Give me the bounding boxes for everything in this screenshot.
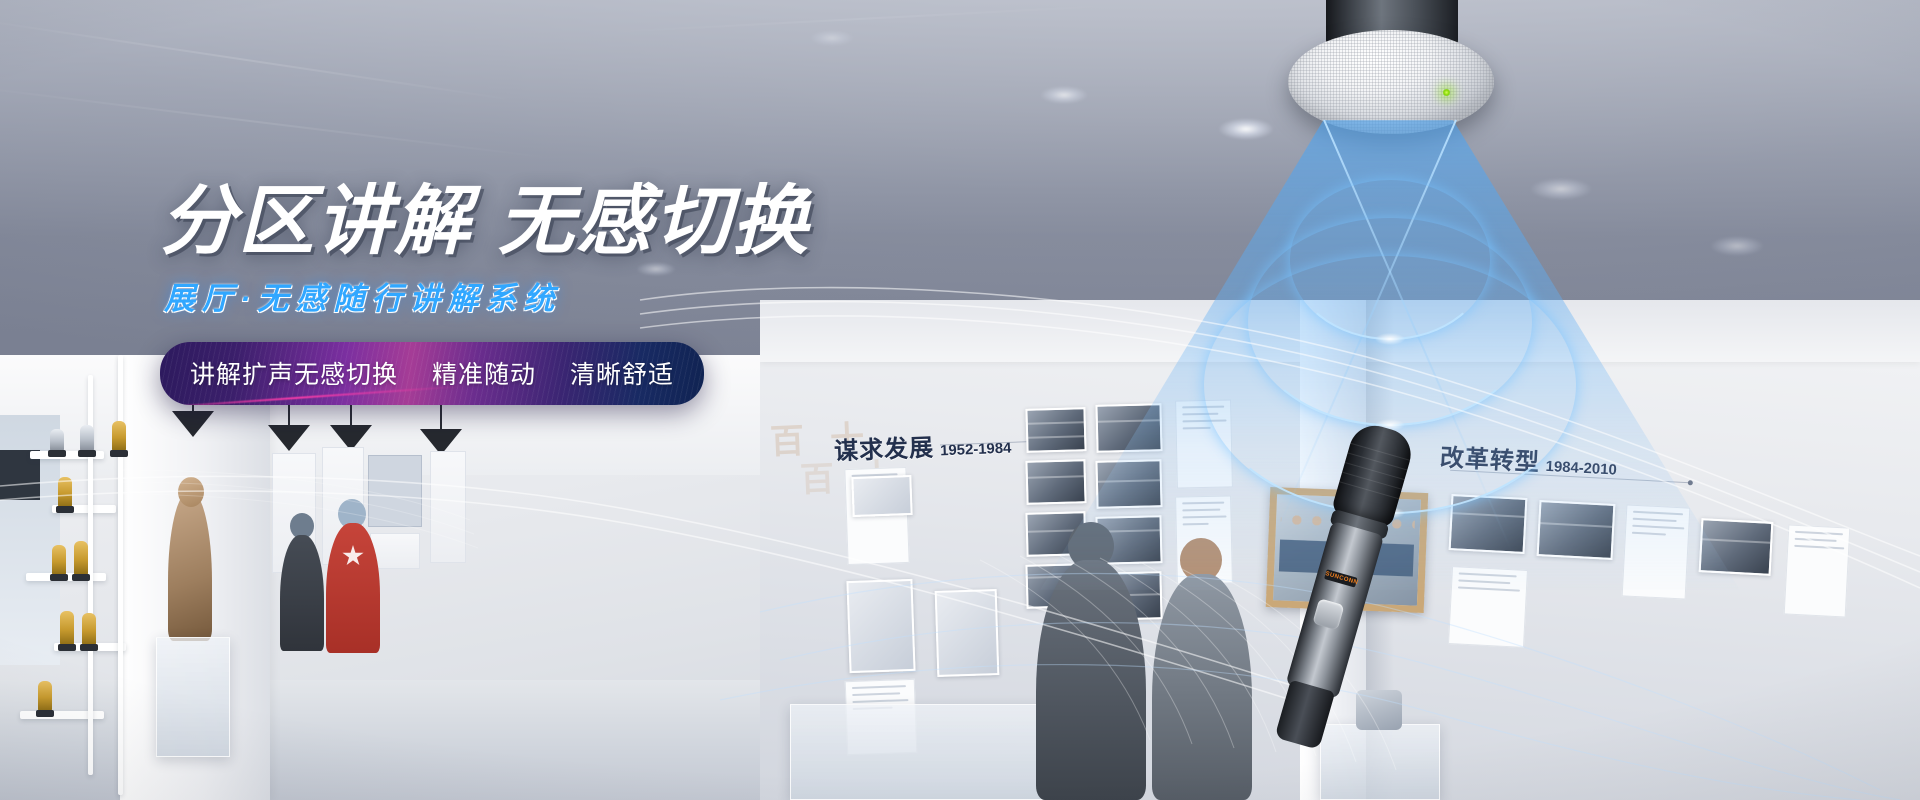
pendant-lamp-shade [268, 425, 310, 451]
banner-stage: 百十 百十 谋求发展1952-1984 改革转型1 [0, 0, 1920, 800]
exhibition-hall-left [0, 355, 770, 800]
ceiling-downlight [1218, 118, 1274, 140]
ceiling-downlight [1530, 178, 1592, 200]
ceiling-downlight [810, 30, 854, 46]
trophy [112, 421, 126, 451]
visitor-figure [280, 535, 324, 651]
ceiling-downlight [1040, 86, 1088, 104]
trophy [58, 477, 72, 507]
display-case [790, 704, 1060, 800]
trophy [80, 425, 94, 451]
feature-item-3: 清晰舒适 [570, 355, 674, 391]
mic-battery-cap [1274, 680, 1335, 750]
exhibit-photo [846, 579, 915, 673]
exhibit-section-title-1: 谋求发展1952-1984 [833, 425, 1011, 467]
feature-pill-wrapper: 讲解扩声无感切换 精准随动 清晰舒适 [160, 342, 900, 405]
trophy [38, 681, 52, 711]
feature-item-1: 讲解扩声无感切换 [190, 355, 398, 391]
page-title: 分区讲解无感切换 [160, 182, 900, 263]
statue-head [178, 477, 204, 507]
display-case [156, 637, 230, 757]
headline-part-2: 无感切换 [498, 179, 810, 264]
banner-copy: 分区讲解无感切换 展厅·无感随行讲解系统 讲解扩声无感切换 精准随动 清晰舒适 [160, 182, 900, 405]
exhibit-text-panel [430, 451, 466, 563]
trophy [74, 541, 88, 575]
exhibit-photo [1025, 407, 1086, 453]
exhibit-photo [851, 475, 912, 517]
visitor-figure [1036, 560, 1146, 800]
visitor-figure [1152, 574, 1252, 800]
page-subtitle: 展厅·无感随行讲解系统 [164, 273, 900, 318]
headline-part-1: 分区讲解 [160, 179, 472, 264]
trophy [50, 429, 64, 451]
trophy [82, 613, 96, 645]
speaker-grille [1288, 30, 1494, 134]
exhibit-photo-panel [368, 455, 422, 527]
hall-floor [0, 680, 770, 800]
feature-item-2: 精准随动 [432, 355, 536, 391]
trophy [60, 611, 74, 645]
exhibit-photo [935, 589, 1000, 677]
exhibit-photo [1025, 459, 1086, 505]
trophy [52, 545, 66, 575]
exhibit-model [1356, 690, 1402, 730]
exhibit-text-panel [1784, 524, 1851, 617]
ceiling-downlight [1710, 236, 1764, 256]
speaker-led-indicator [1442, 88, 1451, 97]
section-title-text: 谋求发展 [834, 435, 935, 466]
visitor-figure [326, 523, 380, 653]
feature-badge[interactable]: 讲解扩声无感切换 精准随动 清晰舒适 [160, 342, 704, 405]
pendant-lamp-shade [172, 411, 214, 437]
ceiling-speaker [1288, 0, 1494, 138]
